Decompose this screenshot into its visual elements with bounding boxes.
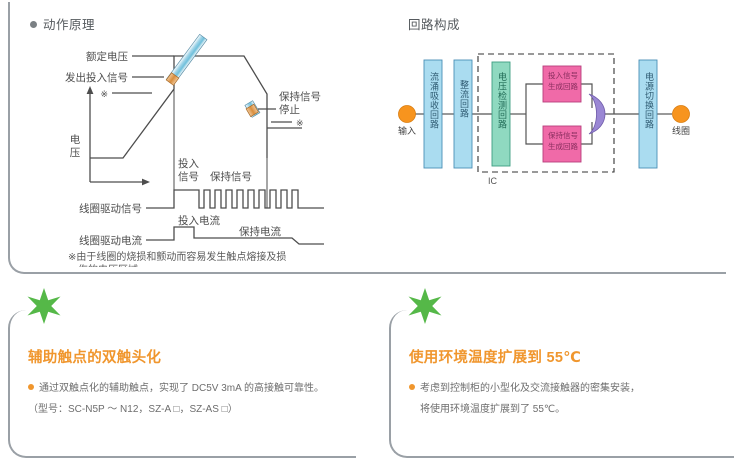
chart-footnote-line1: ※由于线圈的烧损和颤动而容易发生触点熔接及损: [68, 250, 286, 263]
coil-node-icon: [673, 106, 690, 123]
label-ic: IC: [488, 176, 498, 186]
circuit-composition-diagram: IC 输入 线圈: [396, 32, 734, 192]
feature-body: 考虑到控制柜的小型化及交流接触器的密集安装， 将使用环境温度扩展到了 55℃。: [409, 380, 729, 419]
label-rated-voltage: 额定电压: [86, 50, 128, 63]
label-hold-signal-inline: 保持信号: [210, 170, 252, 183]
feature-body: 通过双触点化的辅助触点，实现了 DC5V 3mA 的高接触可靠性。 （型号：SC…: [28, 380, 348, 419]
dot-bullet-icon: [30, 21, 37, 28]
operation-waveform-diagram: 额定电压 发出投入信号 ※: [24, 32, 384, 267]
block-label-hold-signal-generator: 保持信号生成回路: [546, 130, 580, 152]
block-label-close-signal-generator: 投入信号生成回路: [546, 70, 580, 92]
block-label-surge-absorber: 流涌吸收回路: [425, 72, 442, 129]
feature-heading: 使用环境温度扩展到 55℃: [409, 346, 581, 367]
section-title-text: 回路构成: [408, 18, 460, 32]
section-title-text: 动作原理: [43, 18, 95, 32]
block-label-power-switching: 电源切换回路: [640, 72, 657, 129]
section-title-operation-principle: 动作原理: [30, 14, 95, 33]
wire-branch-bottom: [526, 114, 543, 144]
orange-dot-icon: [409, 384, 415, 390]
coil-drive-current-waveform: [146, 227, 324, 244]
input-node-icon: [399, 106, 416, 123]
block-label-rectifier: 整流回路: [455, 80, 472, 118]
star-icon: [405, 286, 445, 326]
label-hold-signal: 保持信号: [279, 90, 321, 103]
voltage-axis-y-arrow: [87, 86, 94, 94]
section-title-circuit-composition: 回路构成: [408, 14, 460, 33]
wire-branch-top: [526, 84, 543, 114]
feature-sub-text: （型号：SC-N5P ～ N12，SZ-A □，SZ-AS □）: [28, 401, 348, 420]
operation-principle-panel: 动作原理 回路构成 额定电压 发出投入信号 ※: [8, 2, 726, 274]
feature-body-text: 考虑到控制柜的小型化及交流接触器的密集安装，: [420, 383, 640, 394]
label-coil-drive-signal: 线圈驱动信号: [79, 202, 142, 215]
block-label-voltage-detection: 电压检测回路: [493, 72, 510, 129]
feature-body-text: 通过双触点化的辅助触点，实现了 DC5V 3mA 的高接触可靠性。: [39, 383, 324, 394]
chart-footnote-line2: 伤的电压区域: [78, 263, 138, 267]
label-input: 输入: [398, 125, 416, 136]
feature-card-ambient-temperature: 使用环境温度扩展到 55℃ 考虑到控制柜的小型化及交流接触器的密集安装， 将使用…: [389, 310, 734, 458]
label-stop: 停止: [279, 103, 300, 116]
coil-drive-signal-waveform: [146, 190, 324, 208]
label-issue-close-signal: 发出投入信号: [65, 71, 128, 84]
label-coil: 线圈: [672, 125, 690, 136]
voltage-axis-x-arrow: [142, 179, 150, 186]
star-icon: [24, 286, 64, 326]
feature-heading: 辅助触点的双触头化: [28, 346, 161, 367]
wire-merge-top: [581, 84, 592, 108]
label-hold-current: 保持电流: [239, 225, 281, 238]
label-close-signal-l2: 信号: [178, 171, 199, 183]
feature-sub-text: 将使用环境温度扩展到了 55℃。: [409, 401, 729, 420]
label-note-mark-right: ※: [296, 118, 304, 128]
label-coil-drive-current: 线圈驱动电流: [79, 234, 142, 247]
label-close-signal-l1: 投入: [178, 157, 199, 170]
axis-label-voltage-char1: 电: [70, 133, 81, 146]
label-close-current: 投入电流: [178, 214, 220, 227]
label-note-mark-left: ※: [100, 89, 108, 99]
orange-dot-icon: [28, 384, 34, 390]
feature-card-dual-contact: 辅助触点的双触头化 通过双触点化的辅助触点，实现了 DC5V 3mA 的高接触可…: [8, 310, 356, 458]
axis-label-voltage-char2: 压: [70, 147, 81, 159]
